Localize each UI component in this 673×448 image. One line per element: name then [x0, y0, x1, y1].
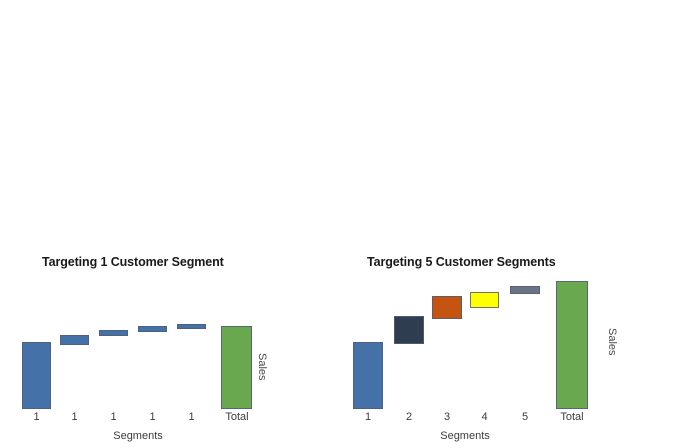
xtick-left-5: 1	[177, 411, 206, 423]
xtick-right-3: 3	[432, 411, 462, 423]
xtick-left-total: Total	[214, 411, 260, 423]
xaxis-label-left: Segments	[98, 430, 178, 442]
bar-segment-2	[394, 316, 424, 344]
bar-total	[556, 281, 588, 409]
bar-segment-4	[470, 292, 499, 308]
xtick-left-4: 1	[138, 411, 167, 423]
chart-panel-right: Targeting 5 Customer Segments 1 2 3 4 5 …	[0, 120, 673, 330]
xtick-right-2: 2	[394, 411, 424, 423]
bar-segment-2	[60, 335, 89, 345]
bar-segment-3	[99, 330, 128, 336]
figure-canvas: Targeting 1 Customer Segment 1 1 1 1 1 T…	[0, 0, 673, 448]
bar-segment-5	[510, 286, 540, 294]
bar-segment-1	[353, 342, 383, 409]
xtick-right-total: Total	[549, 411, 595, 423]
yaxis-label-right: Sales	[606, 328, 618, 360]
xtick-left-3: 1	[99, 411, 128, 423]
xtick-right-4: 4	[470, 411, 499, 423]
xtick-right-1: 1	[353, 411, 383, 423]
bar-segment-1	[22, 342, 51, 409]
xtick-right-5: 5	[510, 411, 540, 423]
xtick-left-1: 1	[22, 411, 51, 423]
xtick-left-2: 1	[60, 411, 89, 423]
plot-area-right: 1 2 3 4 5 Total Segments Sales	[0, 120, 673, 330]
xaxis-label-right: Segments	[425, 430, 505, 442]
yaxis-label-left: Sales	[256, 353, 268, 385]
bar-total	[221, 326, 252, 409]
bar-segment-3	[432, 296, 462, 319]
